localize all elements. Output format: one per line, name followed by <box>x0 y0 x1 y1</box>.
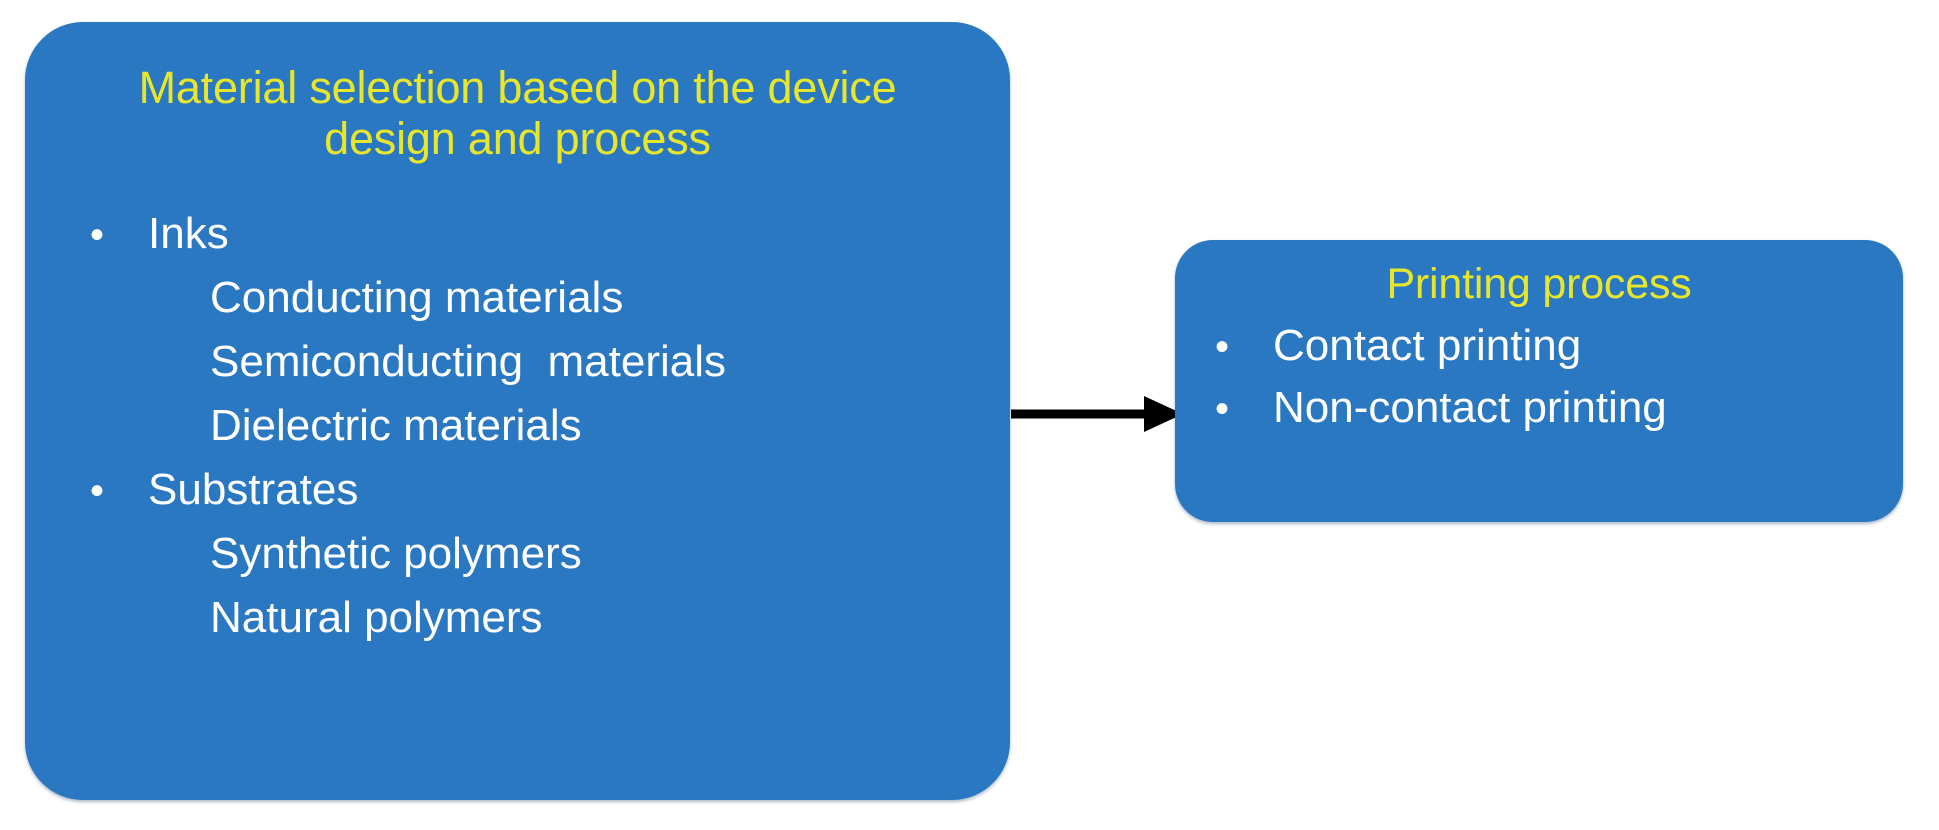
list-item-label: Natural polymers <box>210 586 543 650</box>
list-item: Synthetic polymers <box>70 522 970 586</box>
list-item: Inks <box>70 202 970 266</box>
arrow-icon <box>1008 388 1188 440</box>
list-item: Non-contact printing <box>1205 377 1883 439</box>
bullet-icon <box>1215 389 1273 429</box>
list-item-label: Non-contact printing <box>1273 377 1667 439</box>
bullet-icon <box>90 215 148 255</box>
list-item-label: Substrates <box>148 458 358 522</box>
list-item: Dielectric materials <box>70 394 970 458</box>
node-printing-process-list: Contact printing Non-contact printing <box>1205 315 1883 439</box>
node-printing-process-title: Printing process <box>1175 260 1903 309</box>
list-item-label: Inks <box>148 202 229 266</box>
list-item: Natural polymers <box>70 586 970 650</box>
bullet-icon <box>1215 327 1273 367</box>
list-item: Semiconducting materials <box>70 330 970 394</box>
node-material-selection[interactable]: Material selection based on the device d… <box>25 22 1010 800</box>
list-item-label: Synthetic polymers <box>210 522 582 586</box>
list-item-label: Conducting materials <box>210 266 623 330</box>
list-item: Conducting materials <box>70 266 970 330</box>
list-item-label: Semiconducting materials <box>210 330 726 394</box>
list-item-label: Contact printing <box>1273 315 1581 377</box>
list-item-label: Dielectric materials <box>210 394 582 458</box>
node-printing-process[interactable]: Printing process Contact printing Non-co… <box>1175 240 1903 522</box>
list-item: Contact printing <box>1205 315 1883 377</box>
node-material-selection-list: Inks Conducting materials Semiconducting… <box>70 202 970 650</box>
diagram-canvas: Material selection based on the device d… <box>0 0 1939 830</box>
list-item: Substrates <box>70 458 970 522</box>
node-material-selection-title: Material selection based on the device d… <box>130 62 905 165</box>
bullet-icon <box>90 471 148 511</box>
